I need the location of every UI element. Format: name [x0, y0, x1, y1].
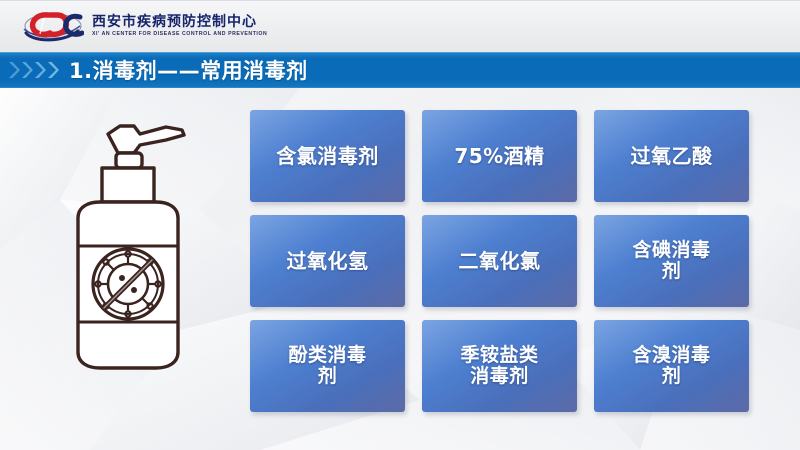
card-peracetic-acid[interactable]: 过氧乙酸 [594, 110, 749, 202]
logo-text-block: 西安市疾病预防控制中心 XI' AN CENTER FOR DISEASE CO… [92, 15, 267, 37]
organization-logo: 西安市疾病预防控制中心 XI' AN CENTER FOR DISEASE CO… [22, 9, 267, 43]
chevron-right-icon [21, 60, 33, 80]
card-chlorine[interactable]: 含氯消毒剂 [250, 110, 405, 202]
section-title-bar: 1.消毒剂——常用消毒剂 [0, 52, 800, 88]
card-label: 含氯消毒剂 [276, 145, 379, 167]
cdc-swoosh-logo-icon [22, 9, 84, 43]
chevron-right-icon [34, 60, 46, 80]
disinfectant-card-grid: 含氯消毒剂 75%酒精 过氧乙酸 过氧化氢 二氧化氯 含碘消毒 剂 酚类消毒 剂 [250, 110, 749, 412]
card-label: 含溴消毒 剂 [632, 345, 710, 388]
chevron-right-icon [8, 60, 20, 80]
card-bromine[interactable]: 含溴消毒 剂 [594, 320, 749, 412]
slide-body: 含氯消毒剂 75%酒精 过氧乙酸 过氧化氢 二氧化氯 含碘消毒 剂 酚类消毒 剂 [0, 88, 800, 450]
card-label: 酚类消毒 剂 [288, 345, 366, 388]
card-label: 75%酒精 [454, 145, 544, 167]
no-virus-prohibition-icon [93, 249, 163, 319]
card-label: 过氧化氢 [287, 250, 369, 272]
card-chlorine-dioxide[interactable]: 二氧化氯 [422, 215, 577, 307]
card-label: 含碘消毒 剂 [632, 240, 710, 283]
card-label: 季铵盐类 消毒剂 [460, 345, 538, 388]
card-hydrogen-peroxide[interactable]: 过氧化氢 [250, 215, 405, 307]
card-label: 二氧化氯 [459, 250, 541, 272]
card-phenolic[interactable]: 酚类消毒 剂 [250, 320, 405, 412]
slide: 西安市疾病预防控制中心 XI' AN CENTER FOR DISEASE CO… [0, 0, 800, 450]
card-alcohol-75[interactable]: 75%酒精 [422, 110, 577, 202]
card-label: 过氧乙酸 [631, 145, 713, 167]
org-name-cn: 西安市疾病预防控制中心 [92, 15, 267, 29]
card-quaternary-ammonium[interactable]: 季铵盐类 消毒剂 [422, 320, 577, 412]
page-title: 1.消毒剂——常用消毒剂 [69, 55, 308, 85]
chevron-group [8, 60, 59, 80]
card-iodine[interactable]: 含碘消毒 剂 [594, 215, 749, 307]
chevron-right-icon [47, 60, 59, 80]
slide-header: 西安市疾病预防控制中心 XI' AN CENTER FOR DISEASE CO… [0, 0, 800, 52]
hand-sanitizer-bottle-illustration [62, 106, 232, 406]
org-name-en: XI' AN CENTER FOR DISEASE CONTROL AND PR… [92, 32, 267, 37]
